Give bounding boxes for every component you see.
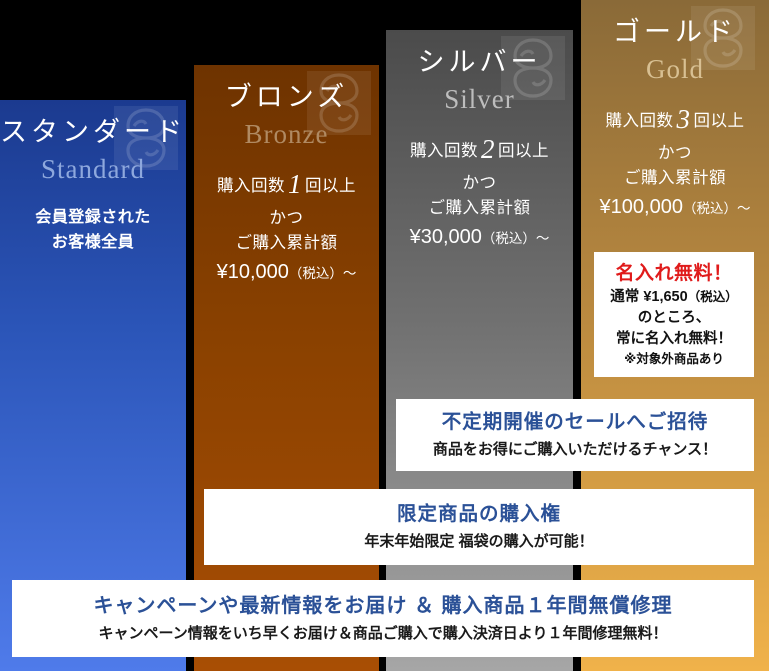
benefit-sale-subtitle: 商品をお得にご購入いただけるチャンス！ xyxy=(433,440,717,460)
condition-amount-line: ¥30,000（税込）〜 xyxy=(392,222,567,253)
condition-purchase-count-line: 購入回数2回以上 xyxy=(392,129,567,171)
tier-condition-gold: 購入回数3回以上 かつ ご購入累計額 ¥100,000（税込）〜 xyxy=(581,99,769,223)
condition-conjunction: かつ xyxy=(587,141,763,167)
tier-condition-bronze: 購入回数1回以上 かつ ご購入累計額 ¥10,000（税込）〜 xyxy=(194,164,379,288)
condition-conjunction: かつ xyxy=(392,171,567,197)
benefit-panel-newsletter[interactable]: キャンペーンや最新情報をお届け ＆ 購入商品１年間無償修理 キャンペーン情報をい… xyxy=(12,580,754,657)
condition-suffix: 回以上 xyxy=(498,142,549,160)
tier-header-standard: スタンダード Standard xyxy=(0,100,186,189)
tier-name-en: Gold xyxy=(581,50,769,89)
benefit-engraving-regular-price: 通常 ¥1,650 xyxy=(610,289,687,305)
condition-total-label: ご購入累計額 xyxy=(392,196,567,222)
condition-tax-note: （税込）〜 xyxy=(289,266,357,281)
benefit-limited-title: 限定商品の購入権 xyxy=(397,502,561,527)
benefit-engraving-line-3: 常に名入れ無料！ xyxy=(610,329,737,350)
tier-name-en: Bronze xyxy=(194,115,379,154)
condition-amount-line: ¥100,000（税込）〜 xyxy=(587,192,763,223)
benefit-engraving-line-2: のところ、 xyxy=(610,308,737,329)
condition-total-label: ご購入累計額 xyxy=(587,166,763,192)
condition-purchase-count-line: 購入回数3回以上 xyxy=(587,99,763,141)
condition-amount: ¥100,000 xyxy=(600,196,683,218)
tier-header-silver: シルバー Silver xyxy=(386,30,573,119)
benefit-sale-title: 不定期開催のセールへご招待 xyxy=(442,410,709,435)
condition-amount: ¥10,000 xyxy=(217,261,289,283)
condition-purchase-count-line: 購入回数1回以上 xyxy=(200,164,373,206)
tier-name-jp: ブロンズ xyxy=(194,81,379,115)
condition-suffix: 回以上 xyxy=(305,177,356,195)
tier-name-en: Silver xyxy=(386,80,573,119)
condition-prefix: 購入回数 xyxy=(606,112,674,130)
condition-count: 2 xyxy=(478,134,498,164)
benefit-engraving-body: 通常 ¥1,650（税込） のところ、 常に名入れ無料！ ※対象外商品あり xyxy=(610,287,737,368)
condition-tax-note: （税込）〜 xyxy=(683,201,751,216)
condition-tax-note: （税込）〜 xyxy=(482,231,550,246)
benefit-newsletter-title: キャンペーンや最新情報をお届け ＆ 購入商品１年間無償修理 xyxy=(93,593,672,619)
tier-name-jp: スタンダード xyxy=(0,116,186,150)
membership-tier-comparison: スタンダード Standard 会員登録された お客様全員 ブロンズ Bronz… xyxy=(0,0,769,671)
benefit-engraving-line-4: ※対象外商品あり xyxy=(610,350,737,368)
condition-prefix: 購入回数 xyxy=(217,177,285,195)
tier-name-jp: シルバー xyxy=(386,46,573,80)
condition-prefix: 購入回数 xyxy=(410,142,478,160)
tier-header-bronze: ブロンズ Bronze xyxy=(194,65,379,154)
condition-line-1: 会員登録された xyxy=(6,205,180,231)
benefit-engraving-tax-note: （税込） xyxy=(688,290,738,304)
tier-column-silver[interactable]: シルバー Silver 購入回数2回以上 かつ ご購入累計額 ¥30,000（税… xyxy=(386,30,573,671)
benefit-engraving-line-1: 通常 ¥1,650（税込） xyxy=(610,287,737,308)
condition-total-label: ご購入累計額 xyxy=(200,231,373,257)
tier-name-en: Standard xyxy=(0,150,186,189)
condition-count: 3 xyxy=(674,104,694,134)
condition-suffix: 回以上 xyxy=(694,112,745,130)
benefit-panel-sale[interactable]: 不定期開催のセールへご招待 商品をお得にご購入いただけるチャンス！ xyxy=(396,399,754,471)
condition-amount-line: ¥10,000（税込）〜 xyxy=(200,257,373,288)
tier-condition-standard: 会員登録された お客様全員 xyxy=(0,205,186,256)
condition-conjunction: かつ xyxy=(200,206,373,232)
condition-line-2: お客様全員 xyxy=(6,230,180,256)
benefit-panel-limited[interactable]: 限定商品の購入権 年末年始限定 福袋の購入が可能！ xyxy=(204,489,754,565)
benefit-engraving-headline: 名入れ無料！ xyxy=(615,261,732,287)
condition-count: 1 xyxy=(285,169,305,199)
tier-condition-silver: 購入回数2回以上 かつ ご購入累計額 ¥30,000（税込）〜 xyxy=(386,129,573,253)
benefit-limited-subtitle: 年末年始限定 福袋の購入が可能！ xyxy=(364,532,593,552)
tier-header-gold: ゴールド Gold xyxy=(581,0,769,89)
condition-amount: ¥30,000 xyxy=(410,226,482,248)
benefit-newsletter-subtitle: キャンペーン情報をいち早くお届け＆商品ご購入で購入決済日より１年間修理無料！ xyxy=(99,624,668,644)
tier-name-jp: ゴールド xyxy=(581,16,769,50)
benefit-panel-engraving[interactable]: 名入れ無料！ 通常 ¥1,650（税込） のところ、 常に名入れ無料！ ※対象外… xyxy=(594,252,754,377)
